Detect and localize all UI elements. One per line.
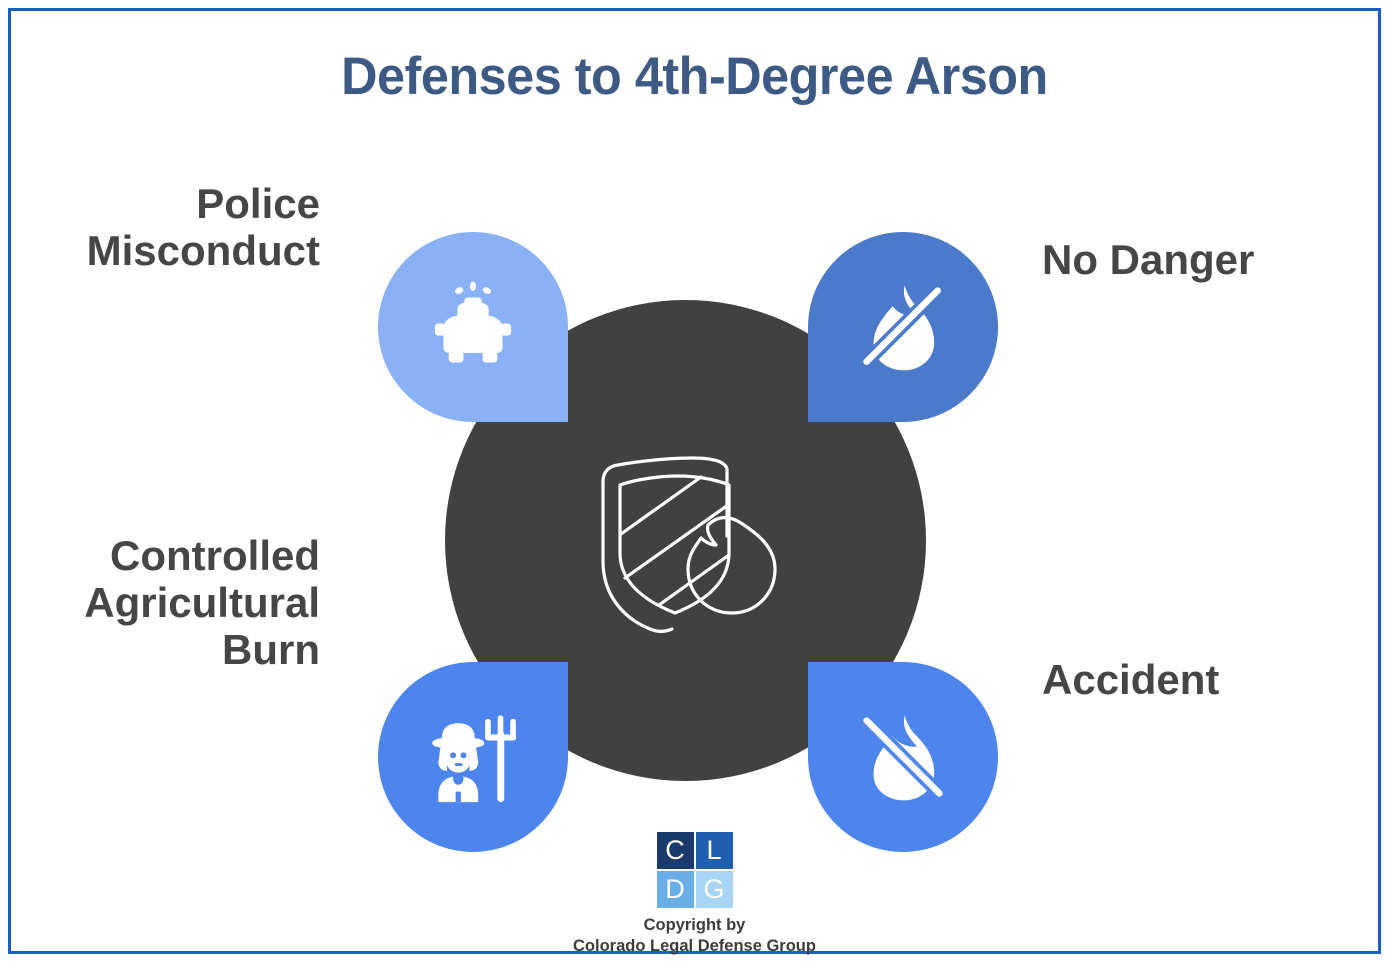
footer: C L D G Copyright by Colorado Legal Defe… <box>0 832 1389 958</box>
label-police-misconduct: Police Misconduct <box>20 180 320 274</box>
label-no-danger: No Danger <box>1042 236 1372 283</box>
node-no-danger[interactable] <box>808 232 998 422</box>
police-car-icon <box>421 275 525 379</box>
node-police-misconduct[interactable] <box>378 232 568 422</box>
label-accident: Accident <box>1042 656 1372 703</box>
shield-flame-icon <box>575 443 795 658</box>
logo-cell-c: C <box>657 832 694 869</box>
label-controlled-agricultural-burn: Controlled Agricultural Burn <box>20 532 320 673</box>
logo-cell-g: G <box>696 871 733 908</box>
flame-slash-icon <box>851 275 955 379</box>
logo-cell-d: D <box>657 871 694 908</box>
logo-cell-l: L <box>696 832 733 869</box>
copyright-text: Copyright by Colorado Legal Defense Grou… <box>573 915 816 958</box>
node-controlled-agricultural-burn[interactable] <box>378 662 568 852</box>
infographic-page: Defenses to 4th-Degree Arson <box>0 0 1389 962</box>
node-accident[interactable] <box>808 662 998 852</box>
cldg-logo: C L D G <box>657 832 733 908</box>
flame-slash-icon <box>851 705 955 809</box>
farmer-pitchfork-icon <box>421 705 525 809</box>
page-title: Defenses to 4th-Degree Arson <box>35 46 1355 107</box>
